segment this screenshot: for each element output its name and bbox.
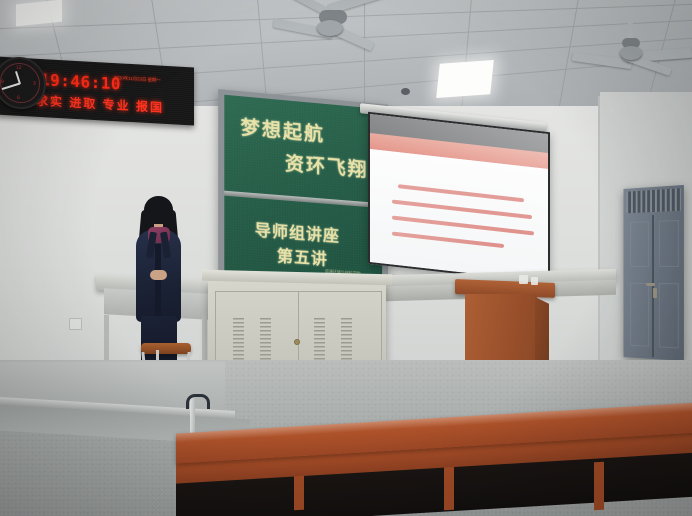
ceiling-fan-1 <box>275 0 403 56</box>
power-outlet <box>69 318 82 330</box>
ceiling-light-panel-1 <box>436 60 494 98</box>
presenter-hands <box>150 270 167 280</box>
slide-text-line-4 <box>392 231 504 248</box>
door-panel-1 <box>630 221 649 267</box>
presenter-coat-lower <box>141 316 177 364</box>
podium-item-1 <box>519 275 528 284</box>
door-panel-2 <box>659 220 679 267</box>
audience-bench-row <box>176 404 692 516</box>
smoke-detector-icon <box>401 88 410 95</box>
blackboard: 梦想起航 资环飞翔 导师组讲座 第五讲 资源环境与材料学院 <box>218 89 388 288</box>
exit-door[interactable] <box>623 185 683 361</box>
door-handle-icon-2[interactable] <box>653 288 657 298</box>
blackboard-surface: 梦想起航 资环飞翔 导师组讲座 第五讲 资源环境与材料学院 <box>224 95 382 283</box>
cabinet-lock-icon[interactable] <box>294 339 300 345</box>
clock-numeral-3: 3 <box>33 81 36 87</box>
wooden-stool-seat <box>141 343 191 354</box>
slide-text-line-2 <box>392 199 532 219</box>
clock-numeral-9: 9 <box>1 79 4 85</box>
projection-screen <box>368 112 550 284</box>
slide-text-line-3 <box>392 215 534 235</box>
clock-numeral-6: 6 <box>17 95 20 101</box>
door-handle-icon[interactable] <box>646 283 655 286</box>
wall-corner-seam <box>598 96 600 396</box>
desk-leg-right <box>202 312 207 364</box>
ceiling-fan-2 <box>578 20 692 82</box>
bench-support-2 <box>444 462 454 511</box>
lecture-hall-photo: 19:46:10 2020年11月23日 星期一 求实 进取 专业 报国 12 … <box>0 0 692 516</box>
coat-placket <box>155 244 161 320</box>
door-transom-window <box>626 188 681 213</box>
door-panel-4 <box>659 283 679 348</box>
bench-support-3 <box>594 462 604 511</box>
door-panel-3 <box>630 283 649 347</box>
blackboard-bottom-line-2: 第五讲 <box>277 242 328 270</box>
slide-text-line-1 <box>398 184 524 202</box>
podium-item-2 <box>531 277 538 285</box>
slide-body <box>370 149 548 282</box>
